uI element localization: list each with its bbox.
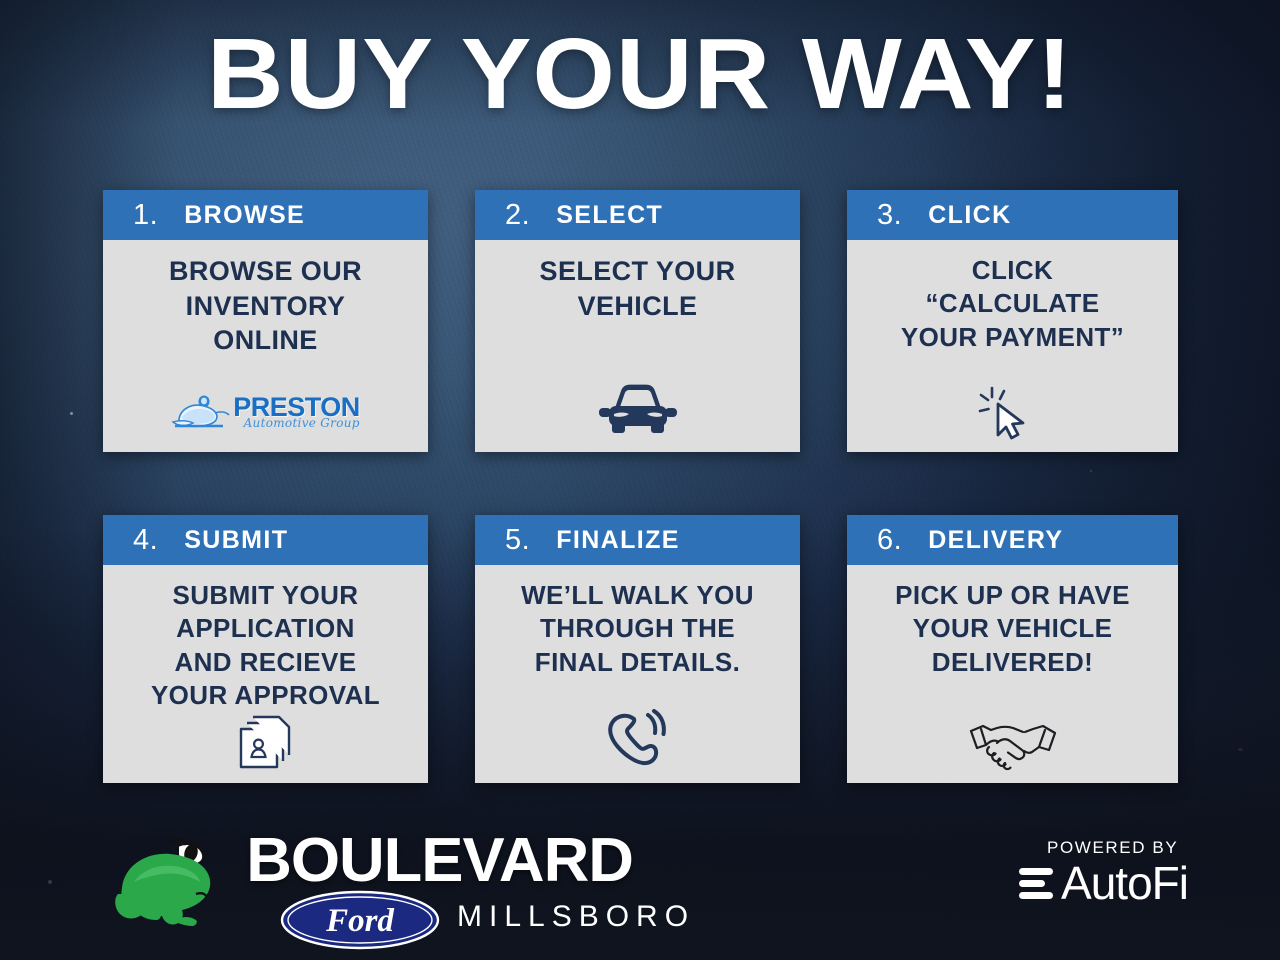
step-card-click[interactable]: 3. CLICK CLICK “CALCULATE YOUR PAYMENT” bbox=[847, 190, 1178, 452]
step-header: 2. SELECT bbox=[475, 190, 800, 240]
step-header: 3. CLICK bbox=[847, 190, 1178, 240]
step-header: 5. FINALIZE bbox=[475, 515, 800, 565]
preston-tagline: Automotive Group bbox=[233, 416, 360, 430]
step-card-select[interactable]: 2. SELECT SELECT YOUR VEHICLE bbox=[475, 190, 800, 452]
step-body: WE’LL WALK YOU THROUGH THE FINAL DETAILS… bbox=[475, 565, 800, 783]
footer: BOULEVARD Ford MILLSBORO POWERED BY Auto… bbox=[0, 810, 1280, 960]
step-header: 4. SUBMIT bbox=[103, 515, 428, 565]
step-number: 5. bbox=[505, 526, 530, 555]
step-number: 4. bbox=[133, 526, 158, 555]
step-title: DELIVERY bbox=[928, 528, 1063, 553]
step-body: SELECT YOUR VEHICLE bbox=[475, 240, 800, 452]
ringing-phone-icon bbox=[604, 709, 672, 771]
poster-root: BUY YOUR WAY! 1. BROWSE BROWSE OUR INVEN… bbox=[0, 0, 1280, 960]
step-text: WE’LL WALK YOU THROUGH THE FINAL DETAILS… bbox=[521, 579, 754, 679]
step-text: CLICK “CALCULATE YOUR PAYMENT” bbox=[901, 254, 1124, 354]
autofi-bars-icon bbox=[1019, 868, 1053, 899]
handshake-icon bbox=[967, 717, 1059, 771]
frog-icon bbox=[112, 836, 240, 934]
step-body: SUBMIT YOUR APPLICATION AND RECIEVE YOUR… bbox=[103, 565, 428, 783]
application-document-icon bbox=[235, 713, 297, 771]
preston-automotive-group-logo: PRESTON Automotive Group bbox=[171, 395, 360, 440]
step-text: PICK UP OR HAVE YOUR VEHICLE DELIVERED! bbox=[895, 579, 1130, 679]
step-number: 2. bbox=[505, 201, 530, 230]
step-card-finalize[interactable]: 5. FINALIZE WE’LL WALK YOU THROUGH THE F… bbox=[475, 515, 800, 783]
dealer-name: BOULEVARD bbox=[246, 830, 633, 892]
dealer-logo[interactable]: BOULEVARD Ford MILLSBORO bbox=[112, 828, 752, 948]
step-body: PICK UP OR HAVE YOUR VEHICLE DELIVERED! bbox=[847, 565, 1178, 783]
step-title: SUBMIT bbox=[184, 528, 288, 553]
step-card-delivery[interactable]: 6. DELIVERY PICK UP OR HAVE YOUR VEHICLE… bbox=[847, 515, 1178, 783]
step-title: FINALIZE bbox=[556, 528, 680, 553]
step-card-browse[interactable]: 1. BROWSE BROWSE OUR INVENTORY ONLINE bbox=[103, 190, 428, 452]
step-text: SUBMIT YOUR APPLICATION AND RECIEVE YOUR… bbox=[151, 579, 380, 712]
powered-by-label: POWERED BY bbox=[1047, 838, 1188, 858]
step-title: BROWSE bbox=[184, 203, 305, 228]
step-number: 6. bbox=[877, 526, 902, 555]
autofi-logo[interactable]: POWERED BY AutoFi bbox=[1019, 838, 1188, 906]
preston-frog-icon bbox=[171, 395, 231, 429]
ford-wordmark: Ford bbox=[325, 903, 394, 939]
step-number: 1. bbox=[133, 201, 158, 230]
dealer-city: MILLSBORO bbox=[457, 902, 695, 932]
ford-logo: Ford bbox=[280, 890, 440, 950]
step-title: CLICK bbox=[928, 203, 1011, 228]
car-icon bbox=[597, 378, 679, 440]
steps-grid: 1. BROWSE BROWSE OUR INVENTORY ONLINE bbox=[103, 190, 1182, 783]
step-text: BROWSE OUR INVENTORY ONLINE bbox=[169, 254, 362, 358]
cursor-click-icon bbox=[978, 382, 1048, 440]
step-header: 1. BROWSE bbox=[103, 190, 428, 240]
step-text: SELECT YOUR VEHICLE bbox=[540, 254, 736, 323]
autofi-wordmark: AutoFi bbox=[1061, 860, 1188, 906]
step-body: BROWSE OUR INVENTORY ONLINE bbox=[103, 240, 428, 452]
step-card-submit[interactable]: 4. SUBMIT SUBMIT YOUR APPLICATION AND RE… bbox=[103, 515, 428, 783]
step-title: SELECT bbox=[556, 203, 663, 228]
step-body: CLICK “CALCULATE YOUR PAYMENT” bbox=[847, 240, 1178, 452]
step-number: 3. bbox=[877, 201, 902, 230]
step-header: 6. DELIVERY bbox=[847, 515, 1178, 565]
page-title: BUY YOUR WAY! bbox=[0, 24, 1280, 124]
